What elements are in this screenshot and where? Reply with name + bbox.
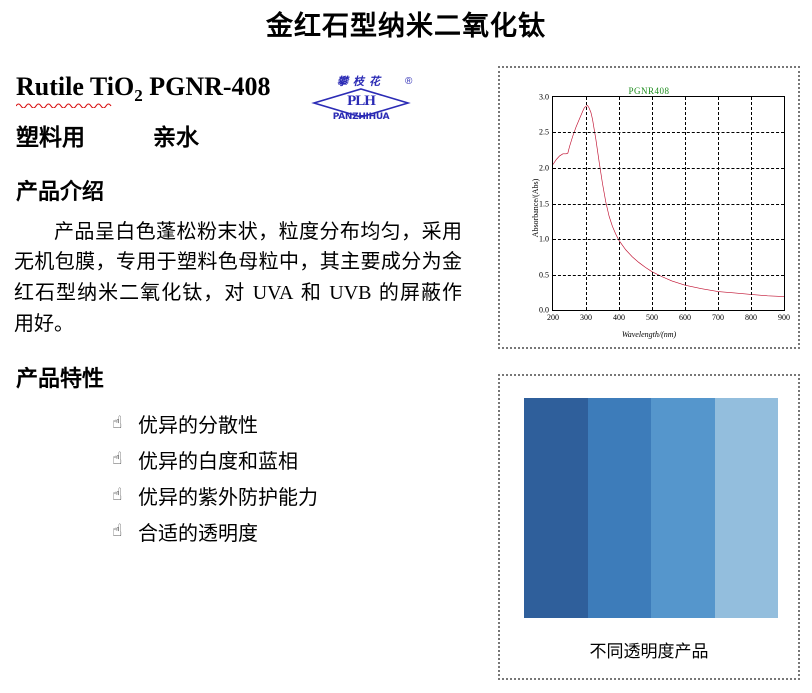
logo-english-text: PANZHIHUA — [311, 112, 411, 122]
list-item: ☝ 优异的分散性 — [10, 409, 480, 438]
chart-x-tick-label: 200 — [547, 313, 559, 322]
list-item: ☝ 优异的紫外防护能力 — [10, 481, 480, 510]
pointing-hand-icon: ☝ — [112, 523, 138, 540]
chart-y-tick-label: 2.5 — [539, 128, 549, 137]
transparency-photo-panel: 不同透明度产品 — [498, 374, 800, 680]
chart-gridline-vertical — [586, 97, 587, 310]
pointing-hand-icon: ☝ — [112, 451, 138, 468]
features-list: ☝ 优异的分散性 ☝ 优异的白度和蓝相 ☝ 优异的紫外防护能力 ☝ 合适的透明度 — [10, 409, 480, 546]
intro-uvb-term: UVB — [329, 282, 371, 304]
list-item: ☝ 合适的透明度 — [10, 517, 480, 546]
chart-gridline-horizontal — [553, 132, 784, 133]
page-title: 金红石型纳米二氧化钛 — [0, 4, 812, 43]
chart-gridline-vertical — [652, 97, 653, 310]
band-dark — [588, 398, 652, 618]
chart-y-tick-label: 1.5 — [539, 199, 549, 208]
chart-x-tick-label: 800 — [745, 313, 757, 322]
chart-wrapper: PGNR408 Absorbance/(Abs) 0.00.51.01.52.0… — [500, 68, 798, 347]
left-content-column: Rutile TiO2 PGNR-408 攀枝花 ® PLH PANZHIHUA… — [10, 72, 480, 562]
chart-gridline-horizontal — [553, 168, 784, 169]
registered-trademark-icon: ® — [405, 76, 412, 87]
property-label: 亲水 — [153, 125, 199, 151]
features-heading: 产品特性 — [10, 361, 480, 393]
intro-text-part2: 和 — [293, 280, 329, 304]
chart-x-tick-label: 900 — [778, 313, 790, 322]
chart-series-line — [553, 106, 784, 297]
product-code-subscript: 2 — [134, 86, 143, 105]
product-code-row: Rutile TiO2 PGNR-408 攀枝花 ® PLH PANZHIHUA — [10, 72, 480, 114]
chart-gridline-horizontal — [553, 275, 784, 276]
chart-y-tick-label: 3.0 — [539, 93, 549, 102]
band-light — [715, 398, 779, 618]
pointing-hand-icon: ☝ — [112, 415, 138, 432]
chart-gridline-horizontal — [553, 239, 784, 240]
chart-x-tick-label: 600 — [679, 313, 691, 322]
intro-heading: 产品介绍 — [10, 174, 480, 206]
feature-label: 优异的白度和蓝相 — [138, 445, 298, 474]
chart-y-tick-label: 2.0 — [539, 163, 549, 172]
spellcheck-squiggle-icon — [16, 101, 116, 108]
pointing-hand-icon: ☝ — [112, 487, 138, 504]
chart-x-tick-label: 300 — [580, 313, 592, 322]
chart-gridline-vertical — [685, 97, 686, 310]
photo-caption: 不同透明度产品 — [500, 637, 798, 662]
band-darkest — [524, 398, 588, 618]
application-label: 塑料用 — [16, 125, 85, 151]
chart-y-tick-label: 0.5 — [539, 270, 549, 279]
chart-y-tick-label: 1.0 — [539, 234, 549, 243]
uv-vis-chart-panel: PGNR408 Absorbance/(Abs) 0.00.51.01.52.0… — [498, 66, 800, 349]
list-item: ☝ 优异的白度和蓝相 — [10, 445, 480, 474]
product-code-prefix: Rutile TiO — [16, 72, 134, 101]
chart-x-tick-label: 700 — [712, 313, 724, 322]
feature-label: 合适的透明度 — [138, 517, 258, 546]
chart-plot-area: 0.00.51.01.52.02.53.02003004005006007008… — [552, 96, 785, 311]
logo-monogram: PLH — [315, 93, 407, 110]
band-medium — [651, 398, 715, 618]
chart-x-tick-label: 500 — [646, 313, 658, 322]
chart-x-axis-label: Wavelength/(nm) — [500, 330, 798, 339]
chart-gridline-vertical — [751, 97, 752, 310]
chart-gridline-vertical — [718, 97, 719, 310]
intro-body-text: 产品呈白色蓬松粉末状，粒度分布均匀，采用无机包膜，专用于塑料色母粒中，其主要成分… — [10, 216, 462, 339]
chart-x-tick-label: 400 — [613, 313, 625, 322]
panzhihua-logo: 攀枝花 ® PLH PANZHIHUA — [307, 74, 425, 130]
chart-gridline-vertical — [619, 97, 620, 310]
transparency-sample-photo — [524, 398, 778, 618]
feature-label: 优异的紫外防护能力 — [138, 481, 318, 510]
product-code-suffix: PGNR-408 — [143, 72, 271, 101]
feature-label: 优异的分散性 — [138, 409, 258, 438]
intro-uva-term: UVA — [253, 282, 294, 304]
chart-gridline-horizontal — [553, 204, 784, 205]
